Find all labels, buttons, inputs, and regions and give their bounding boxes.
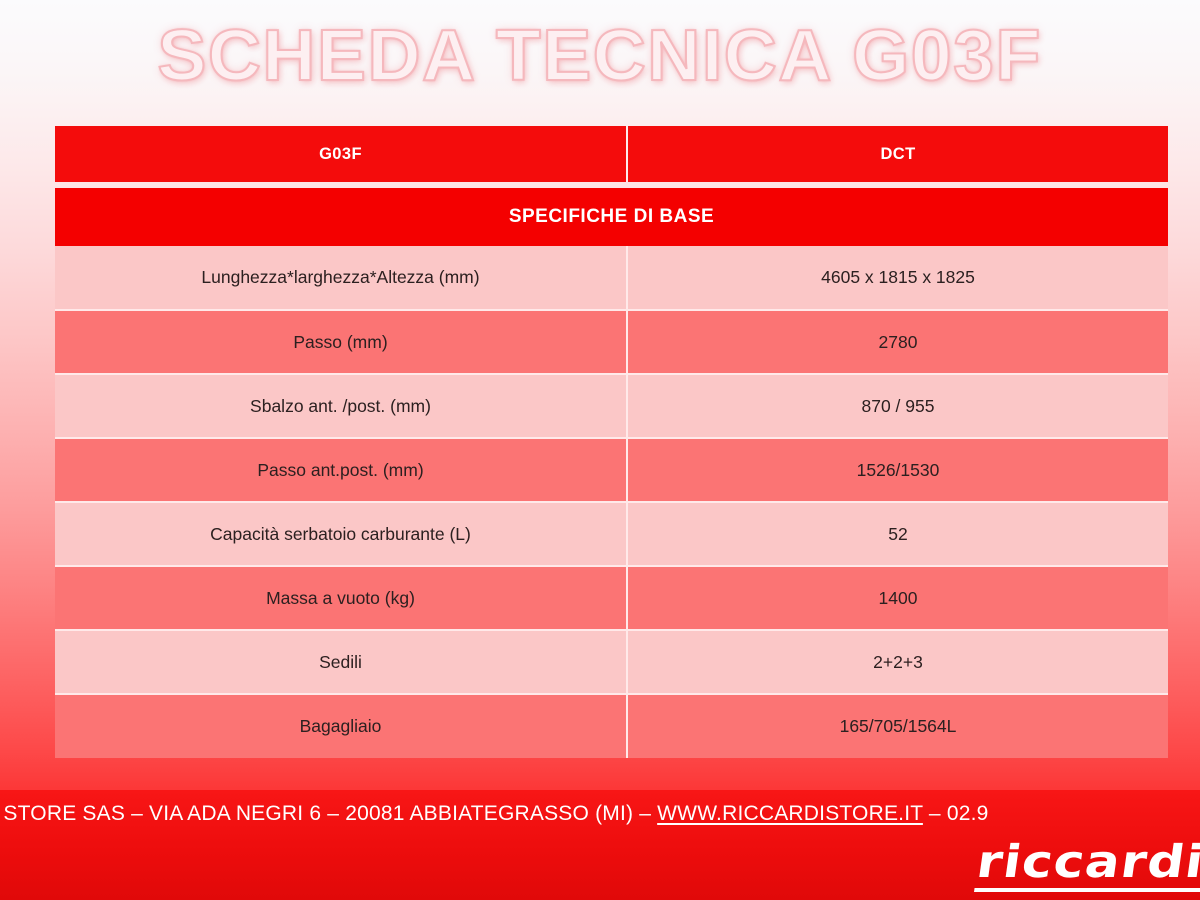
slide-canvas: SCHEDA TECNICA G03F G03F DCT SPECIFICHE … (0, 0, 1200, 900)
title-area: SCHEDA TECNICA G03F (0, 6, 1200, 106)
row-value: 52 (627, 502, 1168, 566)
table-row: Passo (mm) 2780 (55, 310, 1168, 374)
section-title-cell: SPECIFICHE DI BASE (55, 188, 1168, 246)
footer-address-text: DI STORE SAS – VIA ADA NEGRI 6 – 20081 A… (0, 802, 657, 825)
table-row: Massa a vuoto (kg) 1400 (55, 566, 1168, 630)
table-row: Sedili 2+2+3 (55, 630, 1168, 694)
row-label: Bagagliaio (55, 694, 627, 758)
row-label: Passo ant.post. (mm) (55, 438, 627, 502)
header-cell-transmission: DCT (627, 126, 1168, 182)
riccardi-wordmark: riccardi (974, 839, 1200, 884)
row-label: Capacità serbatoio carburante (L) (55, 502, 627, 566)
table-row: Passo ant.post. (mm) 1526/1530 (55, 438, 1168, 502)
riccardi-underline (974, 888, 1200, 892)
table-row: Capacità serbatoio carburante (L) 52 (55, 502, 1168, 566)
page-title: SCHEDA TECNICA G03F (158, 20, 1043, 92)
specifications-table: G03F DCT SPECIFICHE DI BASE Lunghezza*la… (55, 126, 1168, 758)
row-value: 2780 (627, 310, 1168, 374)
footer-phone-text: – 02.9 (923, 802, 989, 825)
header-cell-model: G03F (55, 126, 627, 182)
section-title-row: SPECIFICHE DI BASE (55, 188, 1168, 246)
row-label: Passo (mm) (55, 310, 627, 374)
table-header-row: G03F DCT (55, 126, 1168, 182)
row-label: Sedili (55, 630, 627, 694)
row-label: Lunghezza*larghezza*Altezza (mm) (55, 246, 627, 310)
riccardi-logo: riccardi (974, 834, 1200, 892)
footer-line-wrapper: DI STORE SAS – VIA ADA NEGRI 6 – 20081 A… (0, 802, 989, 826)
row-value: 2+2+3 (627, 630, 1168, 694)
row-label: Sbalzo ant. /post. (mm) (55, 374, 627, 438)
row-value: 1526/1530 (627, 438, 1168, 502)
row-value: 4605 x 1815 x 1825 (627, 246, 1168, 310)
table-row: Bagagliaio 165/705/1564L (55, 694, 1168, 758)
table-row: Lunghezza*larghezza*Altezza (mm) 4605 x … (55, 246, 1168, 310)
row-value: 870 / 955 (627, 374, 1168, 438)
row-label: Massa a vuoto (kg) (55, 566, 627, 630)
footer-contact-line: DI STORE SAS – VIA ADA NEGRI 6 – 20081 A… (0, 790, 1200, 838)
row-value: 165/705/1564L (627, 694, 1168, 758)
row-value: 1400 (627, 566, 1168, 630)
table-row: Sbalzo ant. /post. (mm) 870 / 955 (55, 374, 1168, 438)
footer-bar: DI STORE SAS – VIA ADA NEGRI 6 – 20081 A… (0, 790, 1200, 900)
footer-website-link[interactable]: WWW.RICCARDISTORE.IT (657, 802, 923, 825)
